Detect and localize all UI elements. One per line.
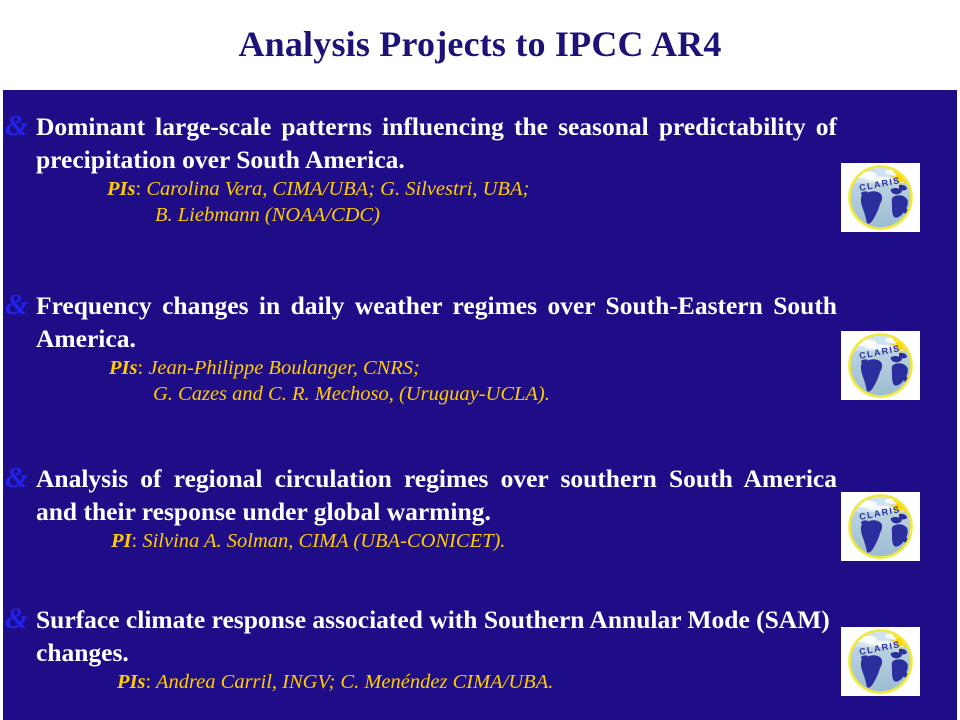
project-headline-text: Analysis of regional circulation regimes… [36, 464, 837, 526]
project-item: &Frequency changes in daily weather regi… [3, 289, 957, 407]
hand-bullet-icon: & [5, 463, 36, 493]
project-headline: &Surface climate response associated wit… [3, 603, 957, 669]
pi-names: B. Liebmann (NOAA/CDC) [155, 204, 380, 226]
project-pi-line: PIs: Andrea Carril, INGV; C. Menéndez CI… [3, 670, 957, 695]
title-band: Analysis Projects to IPCC AR4 [0, 0, 960, 90]
slide-root: Analysis Projects to IPCC AR4 &Dominant … [0, 0, 960, 720]
project-item: &Dominant large-scale patterns influenci… [3, 110, 957, 228]
claris-logo: CLARIS [841, 492, 920, 561]
project-pi-line: B. Liebmann (NOAA/CDC) [3, 203, 957, 228]
project-pi-line: PIs: Jean-Philippe Boulanger, CNRS; [3, 356, 957, 381]
pi-names: Andrea Carril, INGV; C. Menéndez CIMA/UB… [151, 671, 553, 693]
project-pi-line: PIs: Carolina Vera, CIMA/UBA; G. Silvest… [3, 177, 957, 202]
claris-logo: CLARIS [841, 627, 920, 696]
claris-logo: CLARIS [841, 331, 920, 400]
project-pi-line: PI: Silvina A. Solman, CIMA (UBA-CONICET… [3, 529, 957, 554]
page-title: Analysis Projects to IPCC AR4 [0, 22, 960, 66]
content-panel: &Dominant large-scale patterns influenci… [3, 90, 957, 720]
project-headline-text: Frequency changes in daily weather regim… [36, 291, 837, 353]
hand-bullet-icon: & [5, 604, 36, 634]
pi-names: Jean-Philippe Boulanger, CNRS; [143, 357, 420, 379]
hand-bullet-icon: & [5, 290, 36, 320]
pi-label: PIs [117, 671, 145, 693]
project-pi-line: G. Cazes and C. R. Mechoso, (Uruguay-UCL… [3, 382, 957, 407]
project-headline-text: Surface climate response associated with… [36, 605, 830, 667]
project-headline: &Dominant large-scale patterns influenci… [3, 110, 957, 176]
project-headline: &Analysis of regional circulation regime… [3, 462, 957, 528]
pi-label: PI [111, 530, 132, 552]
pi-label: PIs [107, 178, 135, 200]
pi-names: Silvina A. Solman, CIMA (UBA-CONICET). [137, 530, 505, 552]
pi-names: G. Cazes and C. R. Mechoso, (Uruguay-UCL… [153, 383, 550, 405]
project-headline: &Frequency changes in daily weather regi… [3, 289, 957, 355]
pi-names: Carolina Vera, CIMA/UBA; G. Silvestri, U… [141, 178, 529, 200]
pi-label: PIs [109, 357, 137, 379]
hand-bullet-icon: & [5, 111, 36, 141]
claris-logo: CLARIS [841, 163, 920, 232]
project-item: &Surface climate response associated wit… [3, 603, 957, 695]
project-item: &Analysis of regional circulation regime… [3, 462, 957, 554]
project-headline-text: Dominant large-scale patterns influencin… [36, 112, 837, 174]
